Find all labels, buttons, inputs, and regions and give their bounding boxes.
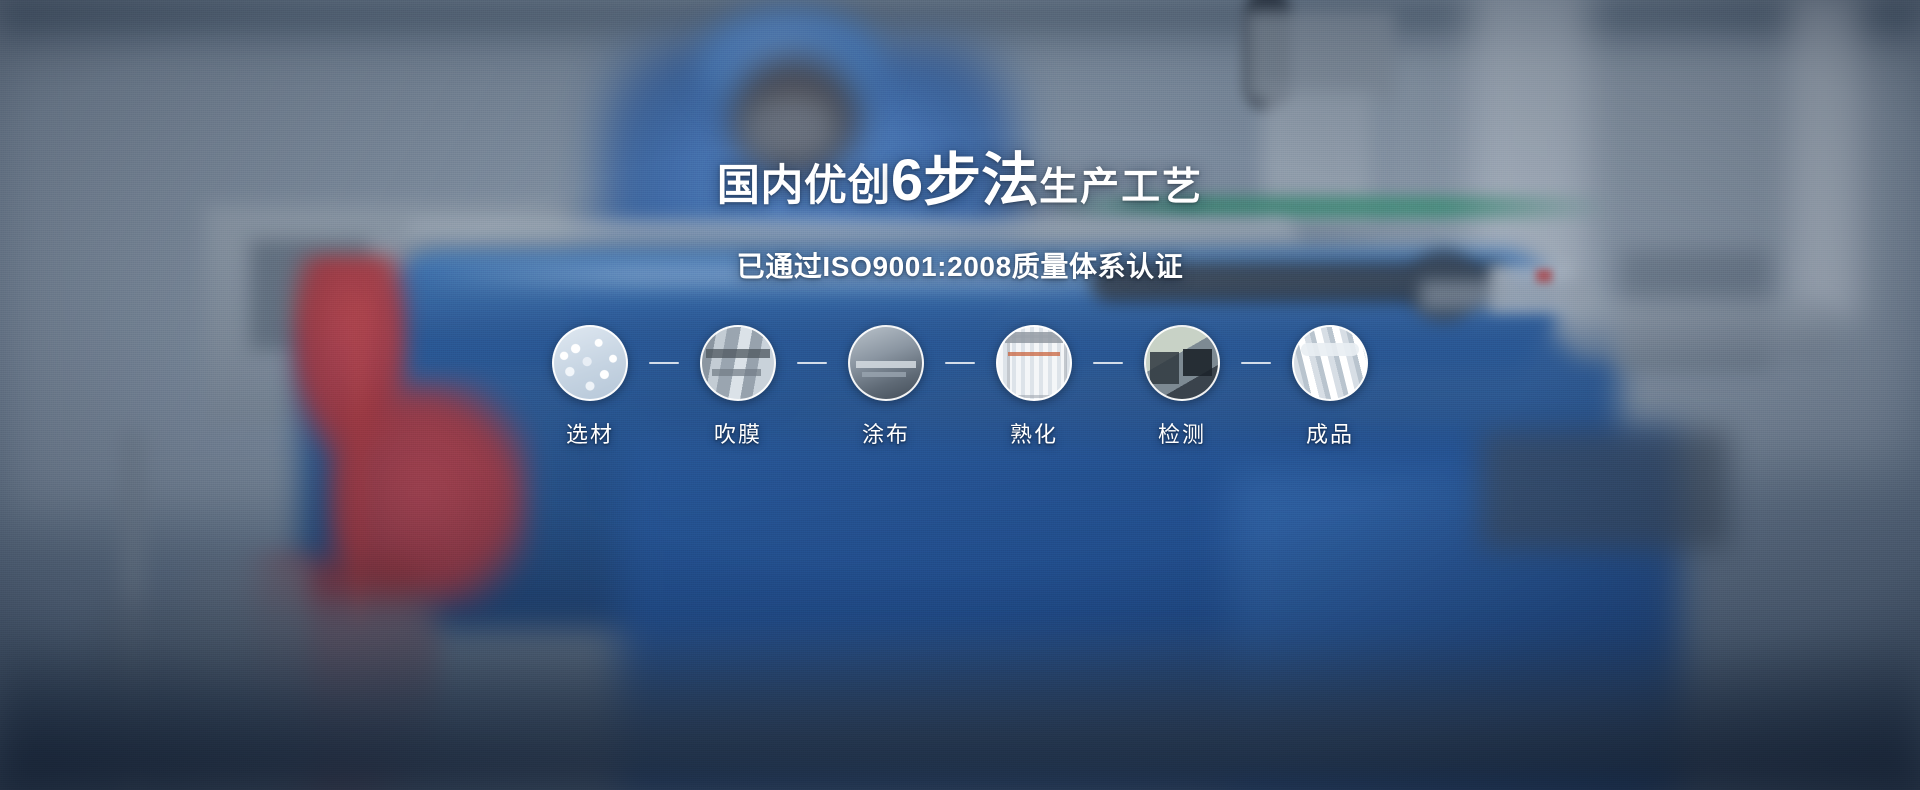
curing-icon [996, 325, 1072, 401]
process-step-label: 成品 [1306, 417, 1354, 449]
page-title: 国内优创6步法生产工艺 [717, 152, 1203, 210]
process-step-5[interactable]: 检测 [1123, 325, 1241, 449]
process-step-label: 涂布 [862, 417, 910, 449]
selection-material-icon [552, 325, 628, 401]
film-blowing-icon [700, 325, 776, 401]
finished-product-icon [1292, 325, 1368, 401]
headline-part-1: 国内优创 [717, 165, 891, 208]
step-connector-line [1241, 362, 1271, 364]
banner-content: 国内优创6步法生产工艺 已通过ISO9001:2008质量体系认证 选材 吹膜 … [0, 0, 1920, 790]
process-step-6[interactable]: 成品 [1271, 325, 1389, 449]
headline-part-3: 生产工艺 [1039, 168, 1203, 207]
process-step-label: 检测 [1158, 417, 1206, 449]
process-step-3[interactable]: 涂布 [827, 325, 945, 449]
process-step-label: 选材 [566, 417, 614, 449]
inspection-icon [1144, 325, 1220, 401]
step-connector-line [1093, 362, 1123, 364]
process-step-2[interactable]: 吹膜 [679, 325, 797, 449]
headline-part-2-highlight: 6步法 [891, 152, 1039, 210]
process-steps-list: 选材 吹膜 涂布 熟化 检测 [531, 325, 1389, 449]
process-step-label: 熟化 [1010, 417, 1058, 449]
certification-subtitle: 已通过ISO9001:2008质量体系认证 [737, 245, 1184, 285]
process-step-label: 吹膜 [714, 417, 762, 449]
coating-icon [848, 325, 924, 401]
step-connector-line [945, 362, 975, 364]
process-step-1[interactable]: 选材 [531, 325, 649, 449]
process-step-4[interactable]: 熟化 [975, 325, 1093, 449]
step-connector-line [797, 362, 827, 364]
process-banner: 国内优创6步法生产工艺 已通过ISO9001:2008质量体系认证 选材 吹膜 … [0, 0, 1920, 790]
step-connector-line [649, 362, 679, 364]
